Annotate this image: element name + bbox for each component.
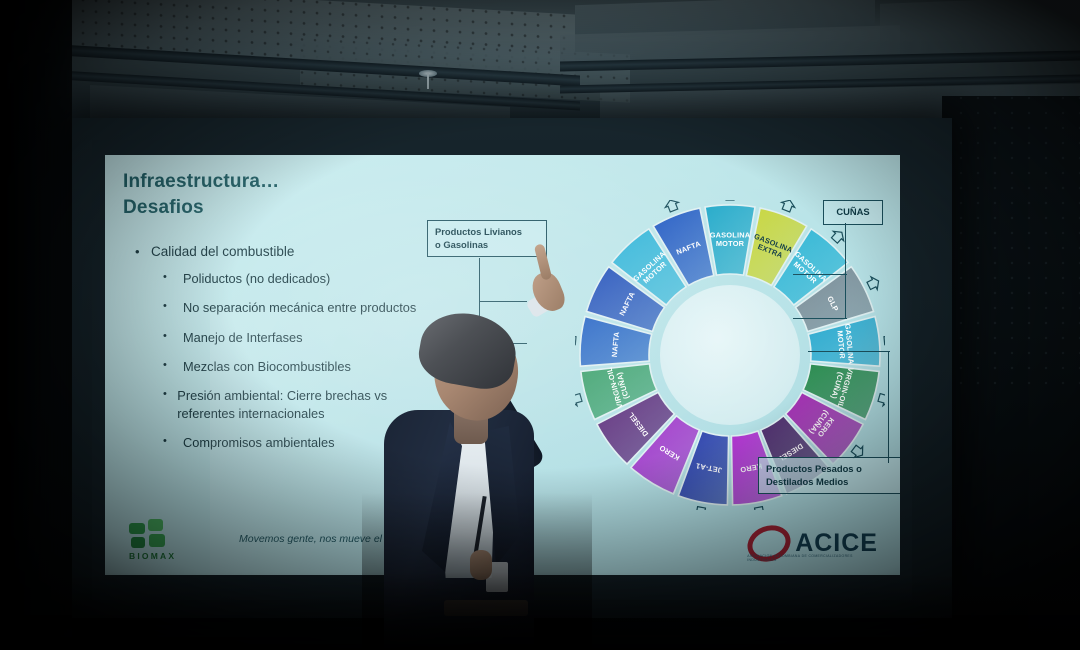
slide-title-block: Infraestructura… Desafios bbox=[123, 169, 279, 220]
left-wall bbox=[0, 0, 72, 650]
donut-center-hole bbox=[660, 285, 800, 425]
cuna-arrow-icon bbox=[664, 200, 681, 213]
presenter-holding-hand bbox=[470, 550, 492, 580]
biomax-logo-icon: BIOMAX bbox=[129, 519, 181, 559]
bullet-icon: • bbox=[135, 243, 151, 261]
bullet-text: Compromisos ambientales bbox=[183, 434, 335, 451]
callout-productos-pesados: Productos Pesados o Destilados Medios bbox=[758, 457, 900, 494]
callout-cunas: CUÑAS bbox=[823, 200, 883, 225]
list-item: • Calidad del combustible bbox=[135, 243, 435, 261]
bullet-text: Poliductos (no dedicados) bbox=[183, 270, 330, 287]
presenter-hair bbox=[414, 306, 521, 394]
page-subtitle: Desafios bbox=[123, 195, 279, 221]
leader-line bbox=[793, 318, 847, 319]
bullet-text: Mezclas con Biocombustibles bbox=[183, 358, 351, 375]
leader-line bbox=[479, 258, 480, 302]
cuna-arrow-icon bbox=[752, 506, 768, 510]
photo-scene: Infraestructura… Desafios • Calidad del … bbox=[0, 0, 1080, 650]
page-title: Infraestructura… bbox=[123, 169, 279, 195]
right-wall bbox=[942, 96, 1080, 650]
leader-line bbox=[793, 274, 847, 275]
list-item: • Poliductos (no dedicados) bbox=[163, 270, 435, 287]
cuna-arrow-icon bbox=[866, 275, 882, 292]
biomax-wordmark: BIOMAX bbox=[129, 551, 176, 561]
bullet-text: Manejo de Interfases bbox=[183, 329, 303, 346]
bullet-icon: • bbox=[163, 329, 183, 346]
ceiling bbox=[0, 0, 1080, 132]
sprinkler-stem bbox=[427, 73, 429, 89]
bullet-icon: • bbox=[163, 358, 183, 375]
callout-productos-livianos: Productos Livianos o Gasolinas bbox=[427, 220, 547, 257]
ceiling-slab bbox=[880, 0, 1080, 56]
leader-line bbox=[888, 351, 889, 463]
bullet-icon: • bbox=[163, 434, 183, 451]
acice-subtitle: ASOCIACION COLOMBIANA DE COMERCIALIZADOR… bbox=[747, 554, 876, 562]
bullet-icon: • bbox=[163, 387, 177, 422]
leader-line bbox=[808, 351, 890, 352]
cuna-arrow-icon bbox=[884, 333, 885, 348]
acice-logo: ACICE ASOCIACION COLOMBIANA DE COMERCIAL… bbox=[747, 526, 878, 561]
cuna-arrow-icon bbox=[877, 391, 885, 407]
presenter-belt bbox=[444, 600, 528, 616]
acice-wordmark: ACICE bbox=[795, 531, 878, 556]
leader-line bbox=[845, 223, 846, 275]
leader-line bbox=[845, 274, 846, 319]
bullet-text: Calidad del combustible bbox=[151, 243, 294, 261]
presenter bbox=[362, 300, 592, 650]
bullet-icon: • bbox=[163, 270, 183, 287]
bullet-icon: • bbox=[163, 299, 183, 316]
cuna-arrow-icon bbox=[779, 200, 796, 213]
cuna-arrow-icon bbox=[693, 506, 709, 510]
